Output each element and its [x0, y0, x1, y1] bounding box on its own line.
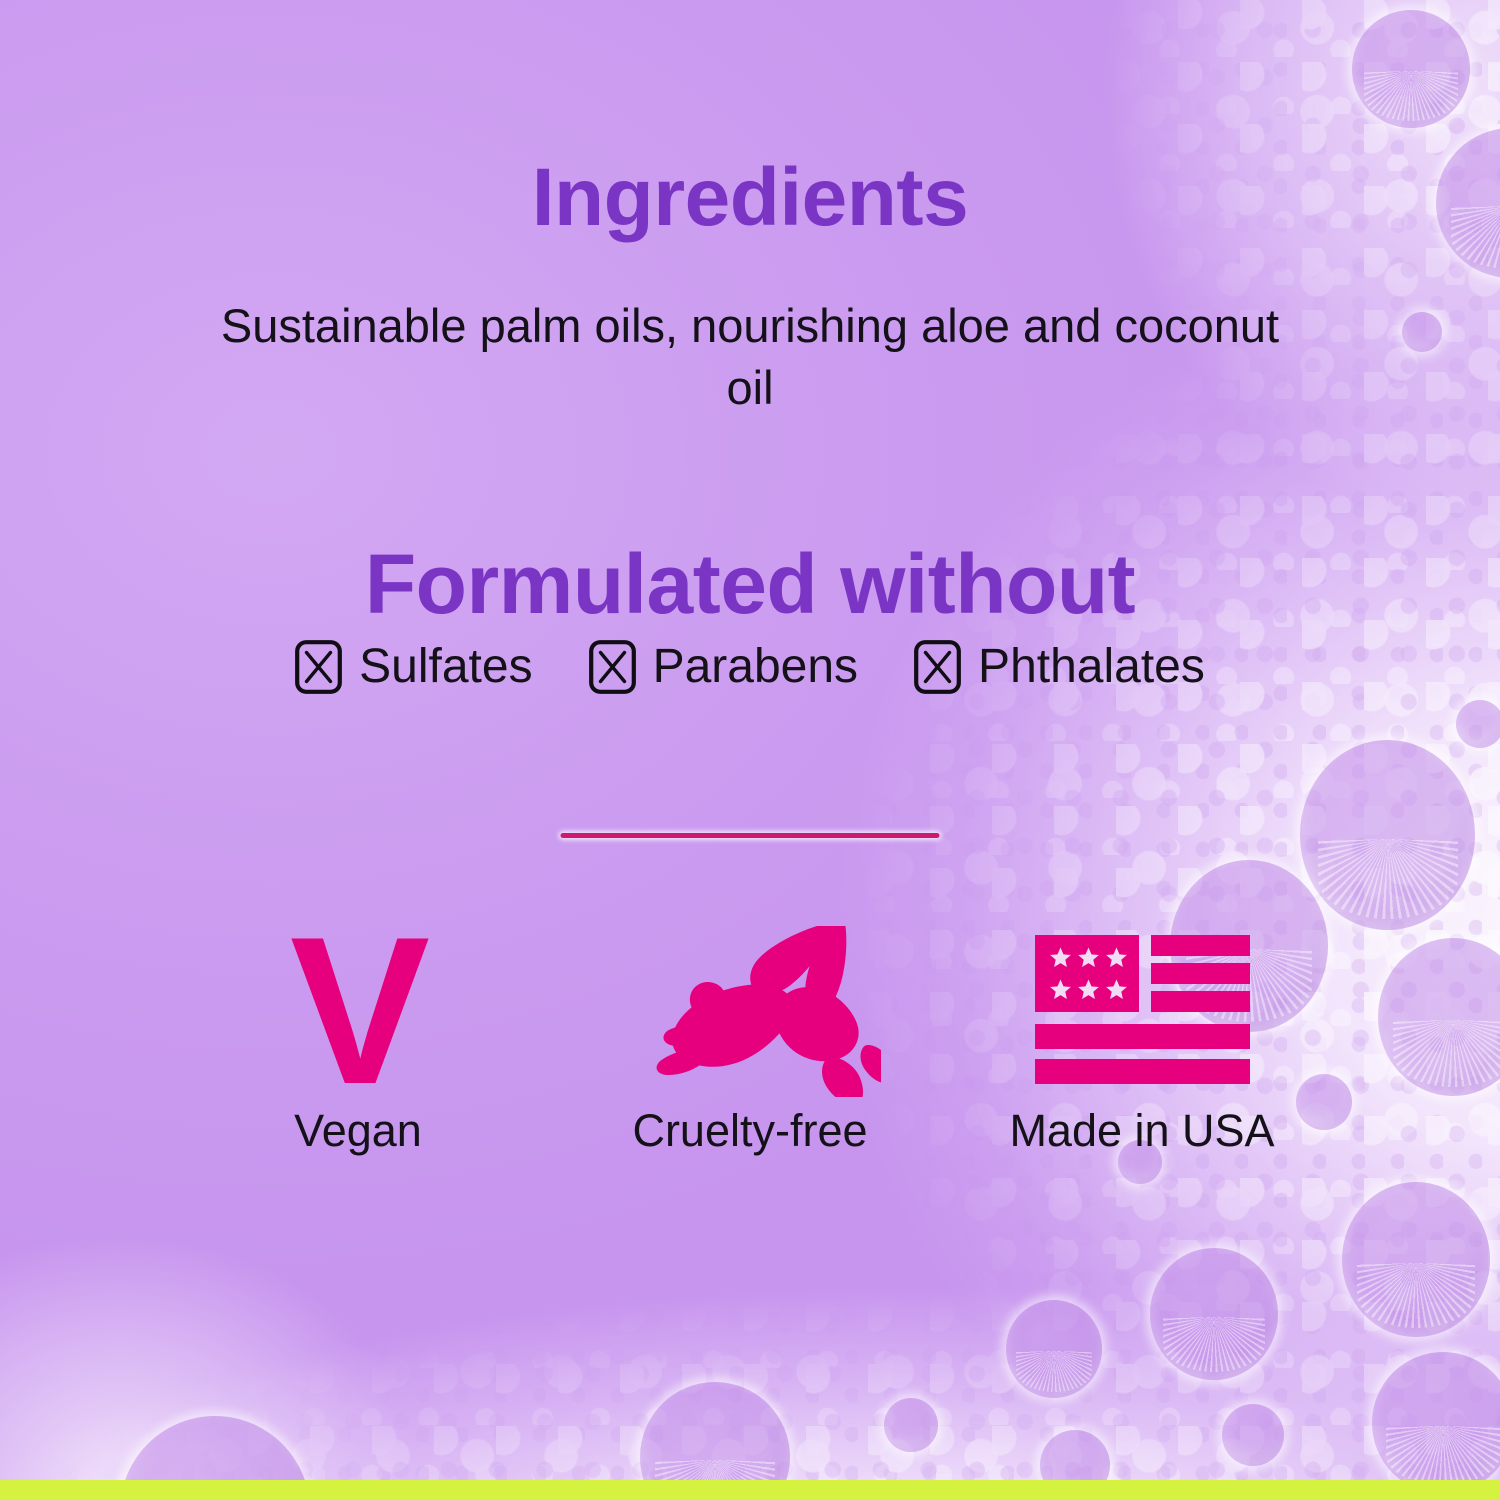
- badge-label: Made in USA: [1009, 1108, 1274, 1153]
- excluded-ingredients-row: Sulfates Parabens Phth: [0, 640, 1500, 694]
- bottom-lime-border: [0, 1480, 1500, 1500]
- x-checkbox-icon: [589, 640, 636, 694]
- vegan-v-glyph: V: [290, 929, 426, 1093]
- product-infographic: Ingredients Sustainable palm oils, nouri…: [0, 0, 1500, 1500]
- vegan-v-icon: V: [290, 930, 426, 1092]
- excluded-item-phthalates: Phthalates: [914, 640, 1205, 694]
- excluded-item-label: Sulfates: [359, 643, 532, 691]
- x-checkbox-icon: [914, 640, 961, 694]
- badge-made-in-usa: Made in USA: [987, 930, 1297, 1153]
- badge-cruelty-free: Cruelty-free: [595, 930, 905, 1153]
- badge-label: Vegan: [294, 1108, 422, 1153]
- badge-label: Cruelty-free: [632, 1108, 867, 1153]
- formulated-without-heading: Formulated without: [0, 536, 1500, 633]
- x-checkbox-icon: [295, 640, 342, 694]
- ingredients-body-text: Sustainable palm oils, nourishing aloe a…: [220, 295, 1280, 419]
- ingredients-heading: Ingredients: [0, 151, 1500, 245]
- badge-vegan: V Vegan: [203, 930, 513, 1153]
- excluded-item-parabens: Parabens: [589, 640, 858, 694]
- certification-badges-row: V Vegan: [0, 930, 1500, 1153]
- leaping-bunny-icon: [619, 930, 881, 1092]
- excluded-item-sulfates: Sulfates: [295, 640, 532, 694]
- excluded-item-label: Parabens: [653, 643, 858, 691]
- excluded-item-label: Phthalates: [978, 643, 1205, 691]
- section-divider: [561, 833, 940, 838]
- usa-flag-icon: [1035, 930, 1250, 1092]
